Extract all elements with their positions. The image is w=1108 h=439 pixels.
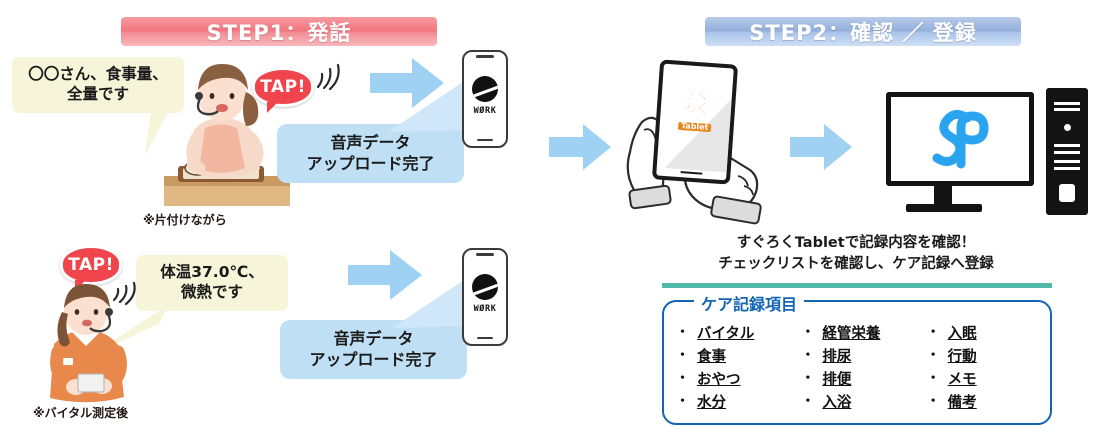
tower-drive-bay xyxy=(1059,184,1075,202)
tower-vent-line xyxy=(1054,102,1080,105)
phone-notch-row2 xyxy=(476,253,494,256)
upload-bubble-row1: 音声データ アップロード完了 xyxy=(277,124,464,183)
tap-badge-meal[interactable]: TAP! xyxy=(252,67,314,107)
care-item[interactable]: ・ バイタル xyxy=(676,322,791,343)
tower-vent-line xyxy=(1054,167,1080,170)
tower-power-dot xyxy=(1064,124,1071,131)
tablet-home-indicator xyxy=(680,171,702,175)
care-item-label: 行動 xyxy=(948,345,977,366)
phone-app-name-row1: WØRK xyxy=(464,106,506,116)
care-item-label: 食事 xyxy=(697,345,726,366)
tap-badge-vital-label: TAP! xyxy=(68,255,114,275)
care-item-bullet: ・ xyxy=(801,326,814,339)
care-item[interactable]: ・ 入浴 xyxy=(801,391,916,412)
monitor-stand-base xyxy=(906,204,982,212)
step2-banner: STEP2：確認 ／ 登録 xyxy=(705,17,1021,46)
arrow-step1-to-step2 xyxy=(549,124,611,170)
tower-vent-line xyxy=(1054,151,1080,154)
care-item[interactable]: ・ 排尿 xyxy=(801,345,916,366)
care-item-bullet: ・ xyxy=(801,395,814,408)
phone-app-name-row2: WØRK xyxy=(464,304,506,314)
monitor-stand-neck xyxy=(934,186,952,206)
suguroku-logo-sub: Tablet xyxy=(678,122,712,132)
care-record-panel-title: ケア記録項目 xyxy=(694,291,804,315)
upload-bubble-row2-line1: 音声データ xyxy=(309,329,437,349)
speech-bubble-vital-line2: 微熱です xyxy=(160,283,264,303)
step1-label: STEP1：発話 xyxy=(207,17,352,47)
upload-bubble-row1-line2: アップロード完了 xyxy=(306,154,434,174)
upload-bubble-row2: 音声データ アップロード完了 xyxy=(280,320,467,379)
phone-notch-row1 xyxy=(476,55,494,58)
care-item-label: 経管栄養 xyxy=(822,322,880,343)
upload-bubble-row1-line1: 音声データ xyxy=(306,133,434,153)
tap-badge-meal-label: TAP! xyxy=(260,77,306,97)
care-item-bullet: ・ xyxy=(927,372,940,385)
tower-vent-line xyxy=(1054,160,1080,163)
care-item-bullet: ・ xyxy=(676,372,689,385)
care-item-bullet: ・ xyxy=(676,326,689,339)
step1-banner: STEP1：発話 xyxy=(121,17,437,46)
work-logo-row1-icon xyxy=(472,76,498,102)
smartphone-row1[interactable]: WØRK xyxy=(462,50,508,148)
care-item-label: 排尿 xyxy=(822,345,851,366)
care-item-bullet: ・ xyxy=(676,395,689,408)
care-item-bullet: ・ xyxy=(927,395,940,408)
care-item-label: おやつ xyxy=(697,368,741,389)
tower-vent-line xyxy=(1054,108,1080,111)
pc-tower xyxy=(1046,88,1088,215)
speech-bubble-meal-line1: 〇〇さん、食事量、 xyxy=(28,65,168,85)
suguroku-tablet-logo: すぐろく Tablet xyxy=(677,87,715,133)
phone-home-indicator-row2 xyxy=(477,337,493,339)
sound-waves-meal-icon xyxy=(312,60,346,94)
care-item[interactable]: ・ 行動 xyxy=(927,345,1042,366)
care-item[interactable]: ・ 経管栄養 xyxy=(801,322,916,343)
caption-vital: ※バイタル測定後 xyxy=(33,404,128,421)
care-record-divider xyxy=(662,283,1052,288)
care-item[interactable]: ・ 入眠 xyxy=(927,322,1042,343)
care-record-description-line2: チェックリストを確認し、ケア記録へ登録 xyxy=(654,254,1058,275)
desktop-monitor xyxy=(886,92,1034,186)
tower-vent-line xyxy=(1054,144,1080,147)
care-item-label: 入浴 xyxy=(822,391,851,412)
care-item-label: 入眠 xyxy=(948,322,977,343)
work-logo-row2-icon xyxy=(472,274,498,300)
care-item[interactable]: ・ 備考 xyxy=(927,391,1042,412)
speech-bubble-vital: 体温37.0℃、 微熱です xyxy=(136,255,288,311)
speech-bubble-vital-line1: 体温37.0℃、 xyxy=(160,263,264,283)
phone-home-indicator-row1 xyxy=(477,139,493,141)
care-item-label: 水分 xyxy=(697,391,726,412)
care-item-bullet: ・ xyxy=(676,349,689,362)
suguroku-logo-text: すぐろく xyxy=(678,87,715,117)
caption-meal: ※片付けながら xyxy=(143,211,227,228)
care-item[interactable]: ・ 排便 xyxy=(801,368,916,389)
care-item[interactable]: ・ 水分 xyxy=(676,391,791,412)
care-item-label: 排便 xyxy=(822,368,851,389)
tablet-device[interactable]: すぐろく Tablet xyxy=(652,59,738,184)
care-record-description: すぐろくTabletで記録内容を確認！ チェックリストを確認し、ケア記録へ登録 xyxy=(654,233,1058,274)
care-item-bullet: ・ xyxy=(801,372,814,385)
speech-bubble-meal-line2: 全量です xyxy=(28,85,168,105)
caregiver-vital-illustration xyxy=(28,282,146,404)
care-item-bullet: ・ xyxy=(927,349,940,362)
care-item-bullet: ・ xyxy=(801,349,814,362)
care-item-label: バイタル xyxy=(697,322,754,343)
care-item[interactable]: ・ メモ xyxy=(927,368,1042,389)
care-item-label: メモ xyxy=(948,368,977,389)
step2-label: STEP2：確認 ／ 登録 xyxy=(749,17,976,47)
sp-system-logo-icon xyxy=(923,102,997,176)
smartphone-row2[interactable]: WØRK xyxy=(462,248,508,346)
upload-bubble-row2-line2: アップロード完了 xyxy=(309,350,437,370)
care-record-item-grid: ・ バイタル ・ 経管栄養 ・ 入眠 ・ 食事 ・ 排尿 ・ 行動 ・ おやつ … xyxy=(676,322,1042,412)
care-item[interactable]: ・ 食事 xyxy=(676,345,791,366)
care-record-description-line1: すぐろくTabletで記録内容を確認！ xyxy=(654,233,1058,254)
care-item-label: 備考 xyxy=(948,391,977,412)
arrow-tablet-to-pc xyxy=(790,124,852,170)
care-item[interactable]: ・ おやつ xyxy=(676,368,791,389)
care-item-bullet: ・ xyxy=(927,326,940,339)
